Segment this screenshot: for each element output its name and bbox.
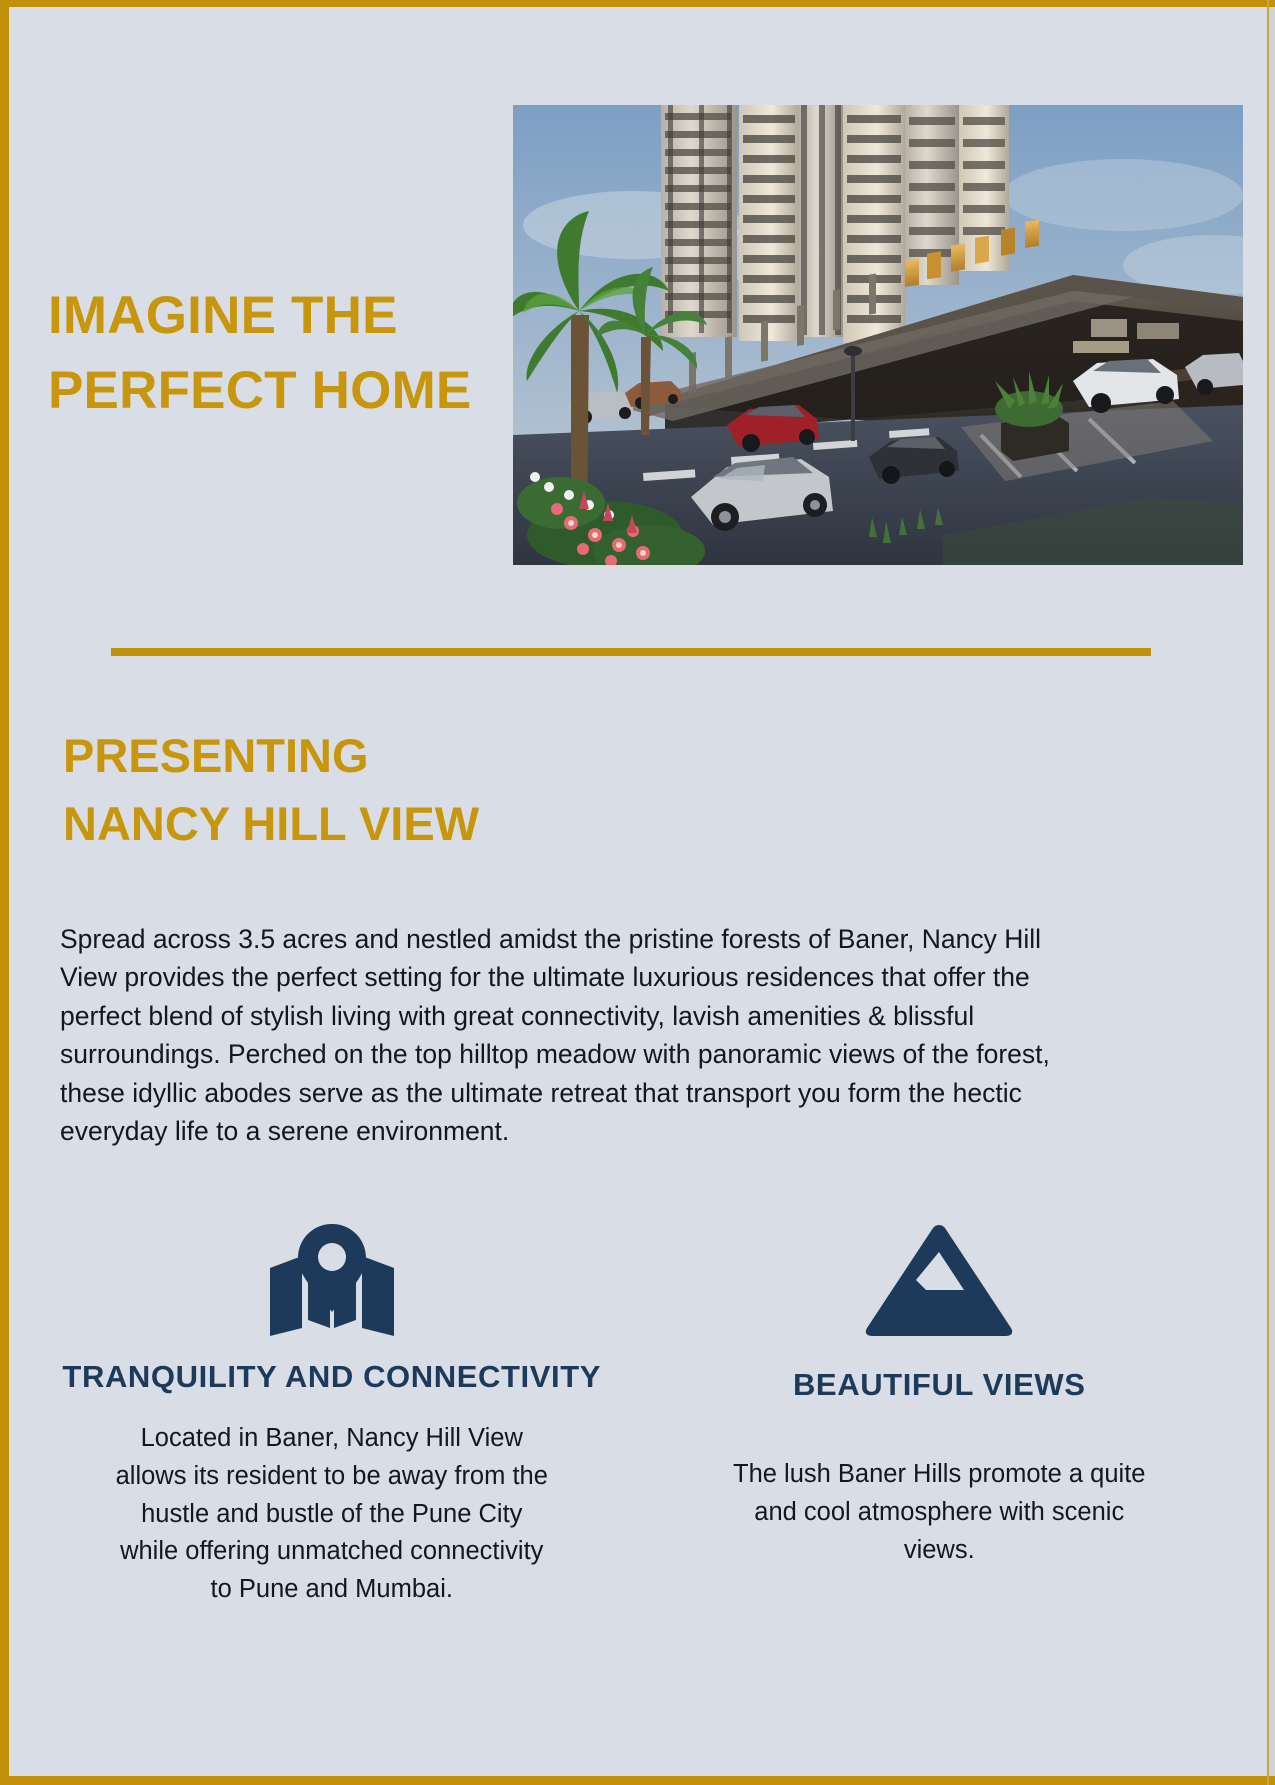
- feature-text-views: The lush Baner Hills promote a quite and…: [729, 1456, 1149, 1569]
- intro-paragraph: Spread across 3.5 acres and nestled amid…: [60, 920, 1060, 1151]
- section-divider: [111, 648, 1151, 656]
- headline-line-2: PERFECT HOME: [48, 353, 488, 428]
- page-right-gutter: [1269, 0, 1275, 1785]
- feature-column-tranquility: TRANQUILITY AND CONNECTIVITY Located in …: [28, 1218, 636, 1609]
- feature-text-tranquility: Located in Baner, Nancy Hill View allows…: [112, 1420, 552, 1609]
- page-border-bottom: [0, 1776, 1275, 1785]
- presenting-line-2: NANCY HILL VIEW: [63, 790, 763, 858]
- brochure-page: IMAGINE THE PERFECT HOME PRESENTING NANC…: [0, 0, 1275, 1785]
- hero-image: [513, 105, 1243, 565]
- feature-title-views: BEAUTIFUL VIEWS: [793, 1366, 1086, 1404]
- feature-title-tranquility: TRANQUILITY AND CONNECTIVITY: [62, 1358, 601, 1396]
- mountain-icon: [864, 1218, 1014, 1336]
- page-border-right: [1267, 0, 1269, 1785]
- page-title: IMAGINE THE PERFECT HOME: [48, 278, 488, 429]
- page-border-top: [0, 0, 1275, 7]
- headline-line-1: IMAGINE THE: [48, 278, 488, 353]
- map-pin-icon: [268, 1218, 396, 1336]
- hero-illustration: [513, 105, 1243, 565]
- feature-column-views: BEAUTIFUL VIEWS The lush Baner Hills pro…: [636, 1218, 1244, 1569]
- page-border-left: [0, 0, 9, 1785]
- map-pin-icon-glyph: [268, 1224, 396, 1336]
- mountain-icon-glyph: [864, 1224, 1014, 1336]
- project-heading: PRESENTING NANCY HILL VIEW: [63, 722, 763, 857]
- feature-section: TRANQUILITY AND CONNECTIVITY Located in …: [28, 1218, 1243, 1609]
- presenting-line-1: PRESENTING: [63, 722, 763, 790]
